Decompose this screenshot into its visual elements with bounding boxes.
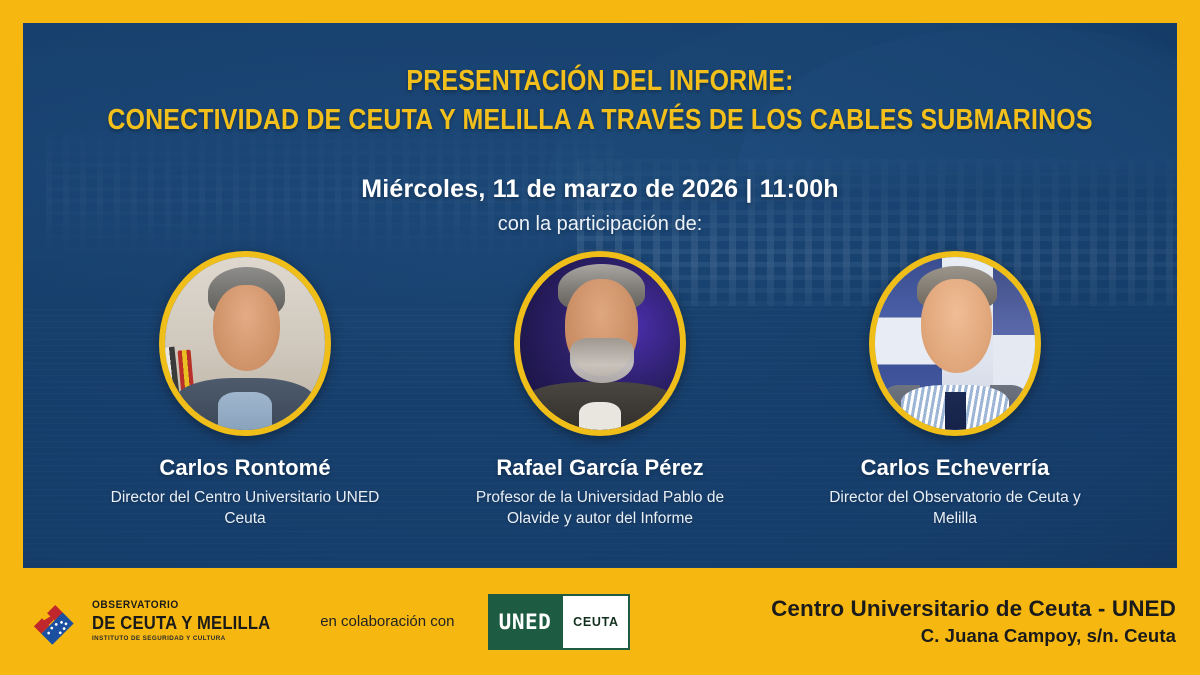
speaker-card: Carlos Rontomé Director del Centro Unive… — [103, 251, 388, 530]
venue-address: C. Juana Campoy, s/n. Ceuta — [771, 625, 1176, 647]
portrait-beard — [570, 338, 634, 383]
speaker-name: Carlos Rontomé — [159, 455, 330, 481]
portrait-photo — [520, 257, 680, 430]
uned-logo: UNED CEUTA — [488, 594, 630, 650]
portrait-face — [921, 279, 991, 372]
speaker-role: Director del Centro Universitario UNED C… — [103, 488, 388, 530]
participation-label: con la participación de: — [23, 213, 1177, 236]
speaker-name: Rafael García Pérez — [496, 455, 703, 481]
speaker-portrait-1 — [159, 251, 331, 436]
speakers-row: Carlos Rontomé Director del Centro Unive… — [23, 251, 1177, 530]
event-date-block: Miércoles, 11 de marzo de 2026 | 11:00h … — [23, 175, 1177, 236]
observatorio-emblem-icon — [30, 596, 82, 648]
speaker-role: Profesor de la Universidad Pablo de Olav… — [458, 488, 743, 530]
uned-brand-text: UNED — [499, 610, 552, 634]
observatorio-wordmark: OBSERVATORIO DE CEUTA Y MELILLA INSTITUT… — [92, 600, 290, 643]
venue-name: Centro Universitario de Ceuta - UNED — [771, 596, 1176, 623]
collaboration-label: en colaboración con — [320, 613, 454, 630]
portrait-photo — [875, 257, 1035, 430]
speaker-card: Rafael García Pérez Profesor de la Unive… — [458, 251, 743, 530]
poster-headline: PRESENTACIÓN DEL INFORME: CONECTIVIDAD D… — [23, 65, 1177, 137]
observatorio-line-2: DE CEUTA Y MELILLA — [92, 614, 270, 633]
footer-left-group: OBSERVATORIO DE CEUTA Y MELILLA INSTITUT… — [30, 594, 630, 650]
portrait-shirt — [218, 392, 272, 430]
uned-campus-text: CEUTA — [573, 615, 619, 629]
event-date: Miércoles, 11 de marzo de 2026 | 11:00h — [23, 175, 1177, 204]
uned-campus-box: CEUTA — [561, 594, 630, 650]
venue-block: Centro Universitario de Ceuta - UNED C. … — [771, 596, 1176, 647]
uned-brand-box: UNED — [488, 594, 561, 650]
portrait-photo — [165, 257, 325, 430]
portrait-tie — [945, 392, 966, 430]
observatorio-logo: OBSERVATORIO DE CEUTA Y MELILLA INSTITUT… — [30, 596, 290, 648]
portrait-shirt — [579, 402, 621, 430]
headline-line-1: PRESENTACIÓN DEL INFORME: — [104, 65, 1096, 99]
poster-main-panel: PRESENTACIÓN DEL INFORME: CONECTIVIDAD D… — [23, 23, 1177, 568]
poster-footer: OBSERVATORIO DE CEUTA Y MELILLA INSTITUT… — [0, 568, 1200, 675]
portrait-face — [213, 285, 280, 372]
speaker-portrait-2 — [514, 251, 686, 436]
observatorio-line-1: OBSERVATORIO — [92, 600, 274, 611]
speaker-name: Carlos Echeverría — [861, 455, 1050, 481]
speaker-card: Carlos Echeverría Director del Observato… — [813, 251, 1098, 530]
event-poster: PRESENTACIÓN DEL INFORME: CONECTIVIDAD D… — [0, 0, 1200, 675]
speaker-portrait-3 — [869, 251, 1041, 436]
speaker-role: Director del Observatorio de Ceuta y Mel… — [813, 488, 1098, 530]
observatorio-line-3: INSTITUTO DE SEGURIDAD Y CULTURA — [92, 636, 280, 643]
headline-line-2: CONECTIVIDAD DE CEUTA Y MELILLA A TRAVÉS… — [104, 104, 1096, 138]
